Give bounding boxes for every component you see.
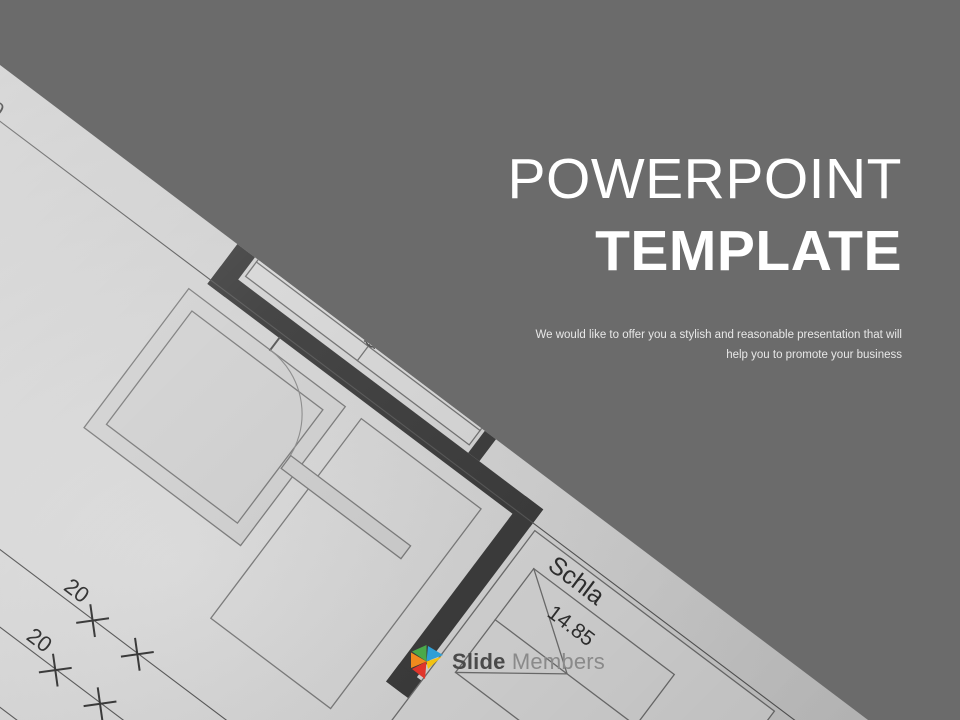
landing-annotation: +2.90 3.21 m² [522,385,670,528]
svg-text:20: 20 [59,573,94,608]
pinwheel-icon [409,643,445,681]
svg-text:20: 20 [22,623,57,658]
logo-word-members: Members [512,649,605,674]
svg-text:30: 30 [190,5,225,40]
svg-text:30: 30 [43,47,78,82]
slide-members-logo[interactable]: Slide Members [409,643,605,681]
logo-word-slide: Slide [452,649,506,674]
page-subtitle: TEMPLATE [472,220,902,284]
svg-text:4.15: 4.15 [388,307,437,353]
area-label: 3.21 m² [552,460,630,528]
title-text-block: POWERPOINT TEMPLATE We would like to off… [472,150,902,365]
logo-wordmark: Slide Members [452,649,605,675]
tagline-line-1: We would like to offer you a stylish and… [472,326,902,346]
elevation-label: +2.90 [565,387,627,443]
svg-text:3.10: 3.10 [0,77,9,123]
title-slide: +2.90 3.21 m² [0,0,960,720]
tagline-line-2: help you to promote your business [472,346,902,366]
page-title: POWERPOINT [472,150,902,208]
tagline: We would like to offer you a stylish and… [472,326,902,366]
svg-text:30: 30 [116,27,151,62]
